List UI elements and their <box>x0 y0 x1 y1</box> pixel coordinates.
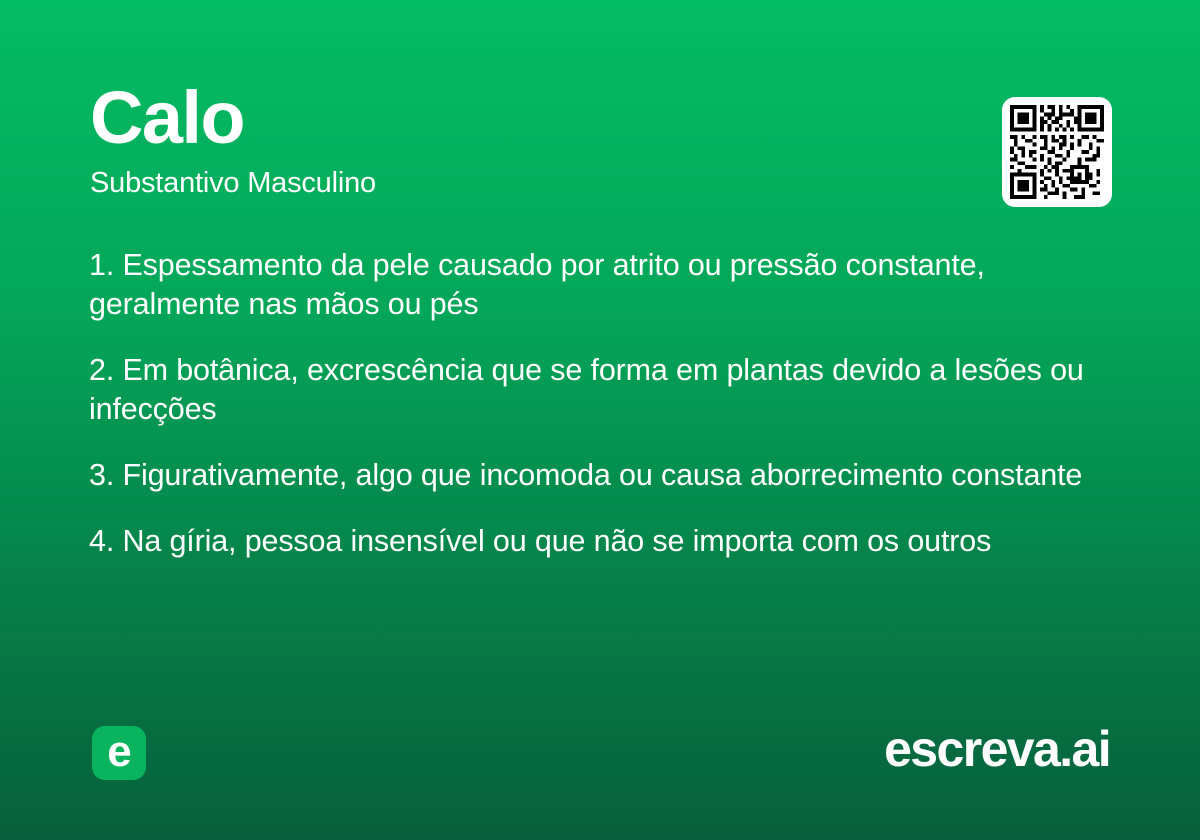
brand-logo-badge[interactable]: e <box>92 726 146 780</box>
qr-code-icon[interactable] <box>1002 97 1112 207</box>
page-title: Calo <box>90 82 244 153</box>
dictionary-card: Calo Substantivo Masculino 1. Espessamen… <box>0 0 1200 840</box>
definition-item: 4. Na gíria, pessoa insensível ou que nã… <box>89 522 1099 561</box>
definition-item: 2. Em botânica, excrescência que se form… <box>89 351 1099 429</box>
brand-logo-letter: e <box>92 730 146 774</box>
definition-item: 3. Figurativamente, algo que incomoda ou… <box>89 456 1099 495</box>
brand-wordmark[interactable]: escreva.ai <box>884 722 1110 777</box>
definition-item: 1. Espessamento da pele causado por atri… <box>89 246 1099 324</box>
part-of-speech-label: Substantivo Masculino <box>90 166 376 201</box>
definition-list: 1. Espessamento da pele causado por atri… <box>89 246 1099 561</box>
